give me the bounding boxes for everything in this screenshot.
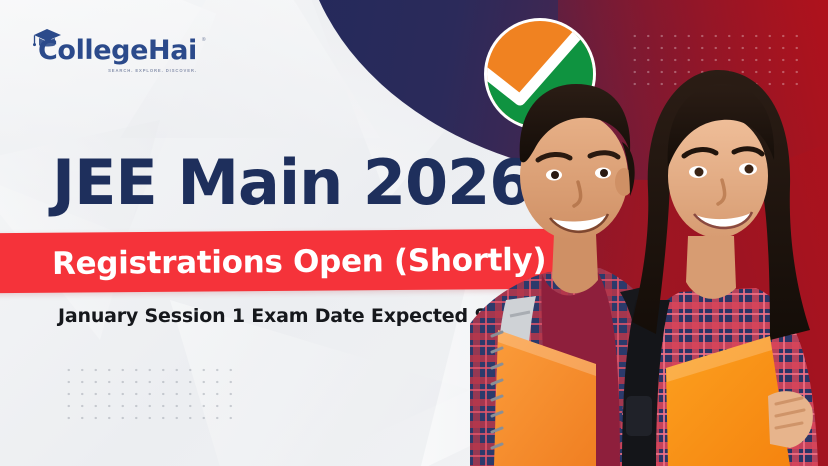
brand-tagline: SEARCH. EXPLORE. DISCOVER. xyxy=(108,69,197,73)
brand-name-part1: College xyxy=(38,35,148,66)
page-title: JEE Main 2026 xyxy=(52,152,531,214)
subtitle-text: January Session 1 Exam Date Expected Soo… xyxy=(58,305,527,327)
brand-logo[interactable]: CollegeHai ® SEARCH. EXPLORE. DISCOVER. xyxy=(30,24,197,64)
promo-banner: CollegeHai ® SEARCH. EXPLORE. DISCOVER. … xyxy=(0,0,828,466)
brand-name-part2: Hai xyxy=(148,35,197,66)
students-photo xyxy=(470,0,828,466)
brand-wordmark: CollegeHai ® SEARCH. EXPLORE. DISCOVER. xyxy=(38,37,197,64)
female-student xyxy=(620,70,818,466)
trademark-symbol: ® xyxy=(201,38,206,43)
dot-grid-icon xyxy=(62,364,234,422)
